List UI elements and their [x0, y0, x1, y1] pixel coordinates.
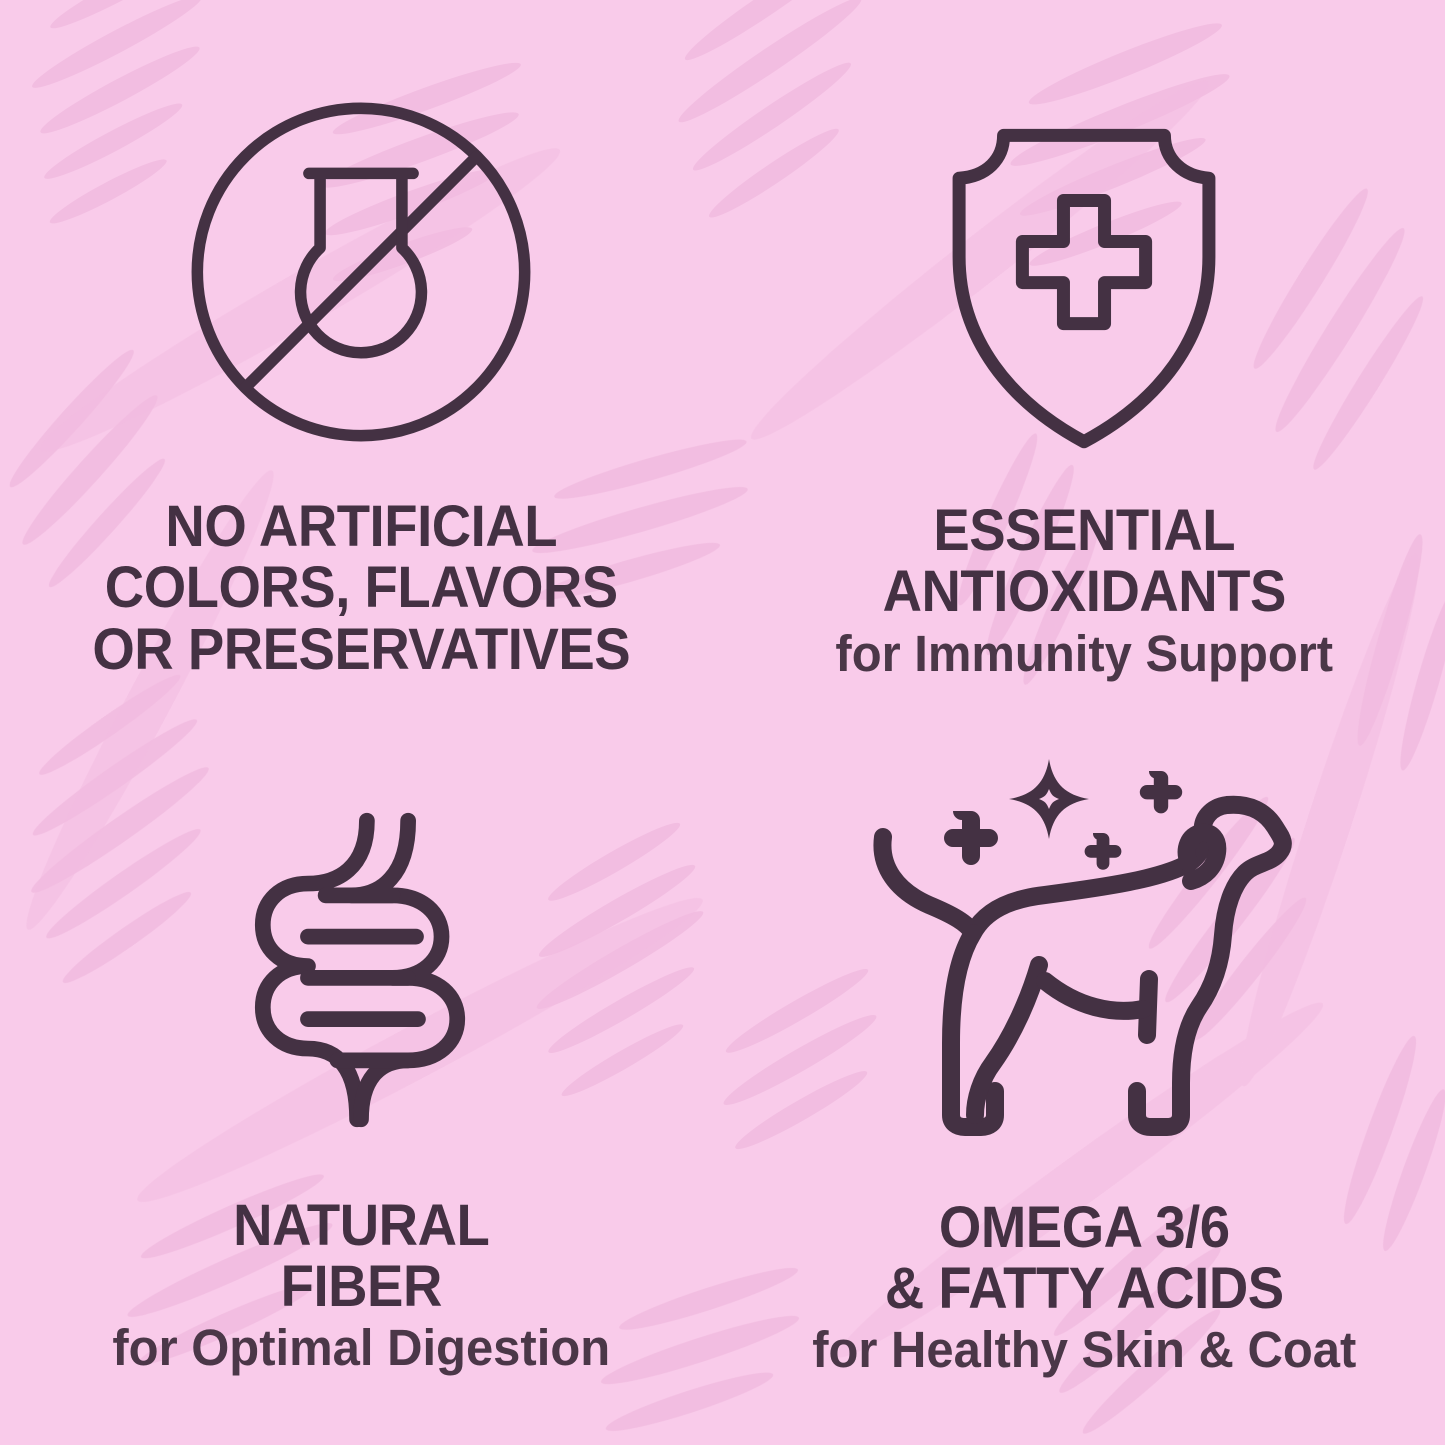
benefit-no-artificial: NO ARTIFICIAL COLORS, FLAVORS OR PRESERV…	[0, 0, 723, 723]
benefit-headline: ESSENTIAL ANTIOXIDANTS	[744, 500, 1423, 623]
benefit-caption: NATURAL FIBER for Optimal Digestion	[0, 1195, 723, 1377]
benefit-omega: OMEGA 3/6 & FATTY ACIDS for Healthy Skin…	[723, 723, 1445, 1445]
benefit-subline: for Healthy Skin & Coat	[737, 1321, 1431, 1378]
benefit-headline: NATURAL FIBER	[22, 1195, 701, 1318]
benefit-antioxidants: ESSENTIAL ANTIOXIDANTS for Immunity Supp…	[723, 0, 1445, 723]
benefits-panel: NO ARTIFICIAL COLORS, FLAVORS OR PRESERV…	[0, 0, 1445, 1445]
benefits-grid: NO ARTIFICIAL COLORS, FLAVORS OR PRESERV…	[0, 0, 1445, 1445]
benefit-headline: NO ARTIFICIAL COLORS, FLAVORS OR PRESERV…	[22, 496, 701, 680]
shield-cross-icon	[930, 90, 1238, 458]
no-flask-icon	[175, 78, 547, 458]
benefit-caption: NO ARTIFICIAL COLORS, FLAVORS OR PRESERV…	[0, 496, 723, 680]
benefit-caption: OMEGA 3/6 & FATTY ACIDS for Healthy Skin…	[723, 1197, 1445, 1379]
benefit-subline: for Optimal Digestion	[14, 1319, 708, 1376]
benefit-natural-fiber: NATURAL FIBER for Optimal Digestion	[0, 723, 723, 1445]
benefit-caption: ESSENTIAL ANTIOXIDANTS for Immunity Supp…	[723, 500, 1445, 682]
dog-sparkle-icon	[869, 733, 1299, 1163]
benefit-subline: for Immunity Support	[737, 625, 1431, 682]
intestine-icon	[243, 761, 479, 1135]
benefit-headline: OMEGA 3/6 & FATTY ACIDS	[744, 1197, 1423, 1320]
